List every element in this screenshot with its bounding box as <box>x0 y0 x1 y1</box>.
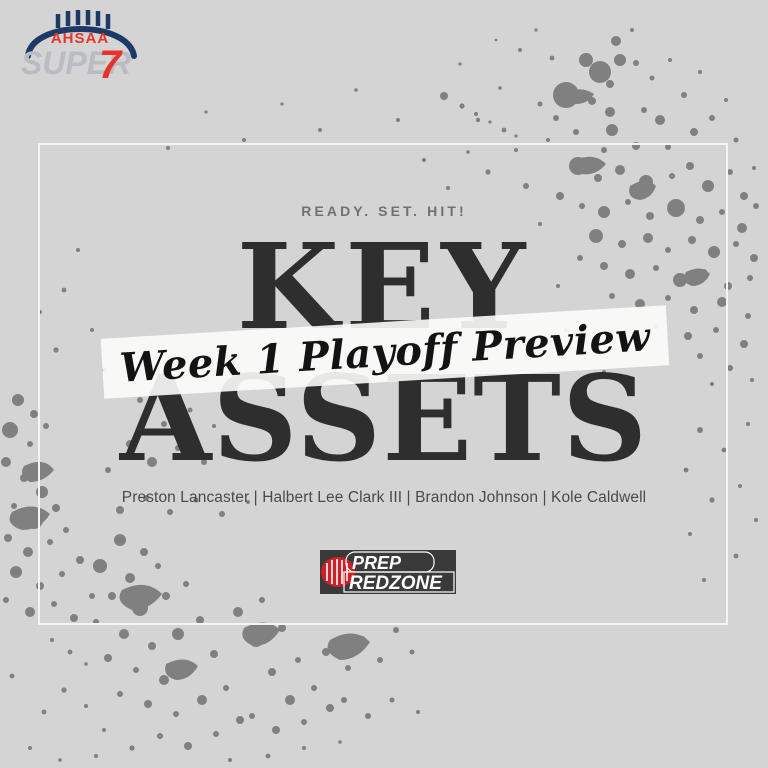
poster-content: READY. SET. HIT! KEY ASSETS Week 1 Playo… <box>0 0 768 768</box>
prep-redzone-logo: PREP REDZONE <box>318 546 458 598</box>
prep-redzone-line2-text: REDZONE <box>349 573 443 594</box>
player-names-line: Preston Lancaster | Halbert Lee Clark II… <box>0 489 768 507</box>
poster-canvas: AHSAA SUPER 7 READY. SET. HIT! KEY ASSET… <box>0 0 768 768</box>
prep-redzone-line1-text: PREP <box>352 553 402 573</box>
